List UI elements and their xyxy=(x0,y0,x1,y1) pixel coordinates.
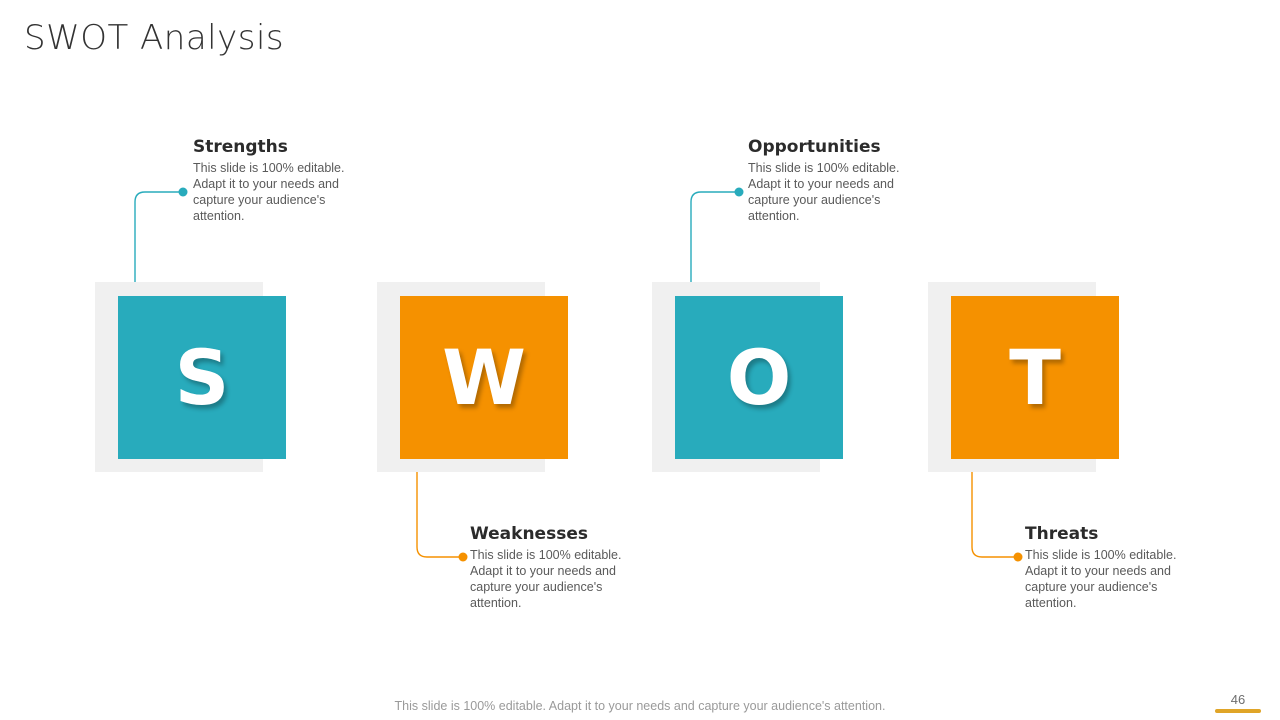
page-number: 46 xyxy=(1215,692,1261,707)
swot-body-weaknesses: This slide is 100% editable. Adapt it to… xyxy=(470,547,630,611)
swot-heading-threats: Threats xyxy=(1025,524,1185,544)
tile-face: O xyxy=(675,296,843,459)
swot-body-opportunities: This slide is 100% editable. Adapt it to… xyxy=(748,160,908,224)
swot-text-opportunities: Opportunities This slide is 100% editabl… xyxy=(748,137,908,224)
page-number-badge: 46 xyxy=(1215,692,1261,713)
swot-heading-weaknesses: Weaknesses xyxy=(470,524,630,544)
swot-text-weaknesses: Weaknesses This slide is 100% editable. … xyxy=(470,524,630,611)
tile-face: W xyxy=(400,296,568,459)
tile-letter-o: O xyxy=(727,340,792,416)
swot-body-strengths: This slide is 100% editable. Adapt it to… xyxy=(193,160,353,224)
swot-analysis-slide: SWOT Analysis S W O xyxy=(0,0,1280,720)
connector-dot-threats xyxy=(1014,553,1023,562)
swot-tile-threats[interactable]: T xyxy=(928,282,1096,472)
tile-letter-t: T xyxy=(1009,340,1061,416)
swot-tile-opportunities[interactable]: O xyxy=(652,282,820,472)
footer-note: This slide is 100% editable. Adapt it to… xyxy=(0,699,1280,713)
swot-tile-weaknesses[interactable]: W xyxy=(377,282,545,472)
connector-dot-strengths xyxy=(179,188,188,197)
connector-threats xyxy=(972,470,1018,557)
swot-text-strengths: Strengths This slide is 100% editable. A… xyxy=(193,137,353,224)
swot-heading-opportunities: Opportunities xyxy=(748,137,908,157)
connector-dot-weaknesses xyxy=(459,553,468,562)
tile-letter-w: W xyxy=(442,340,526,416)
connector-dot-opportunities xyxy=(735,188,744,197)
connector-weaknesses xyxy=(417,470,463,557)
swot-body-threats: This slide is 100% editable. Adapt it to… xyxy=(1025,547,1185,611)
swot-heading-strengths: Strengths xyxy=(193,137,353,157)
swot-tile-strengths[interactable]: S xyxy=(95,282,263,472)
swot-text-threats: Threats This slide is 100% editable. Ada… xyxy=(1025,524,1185,611)
page-number-rule xyxy=(1215,709,1261,713)
tile-letter-s: S xyxy=(175,340,230,416)
tile-face: S xyxy=(118,296,286,459)
tile-face: T xyxy=(951,296,1119,459)
page-title: SWOT Analysis xyxy=(24,18,284,58)
